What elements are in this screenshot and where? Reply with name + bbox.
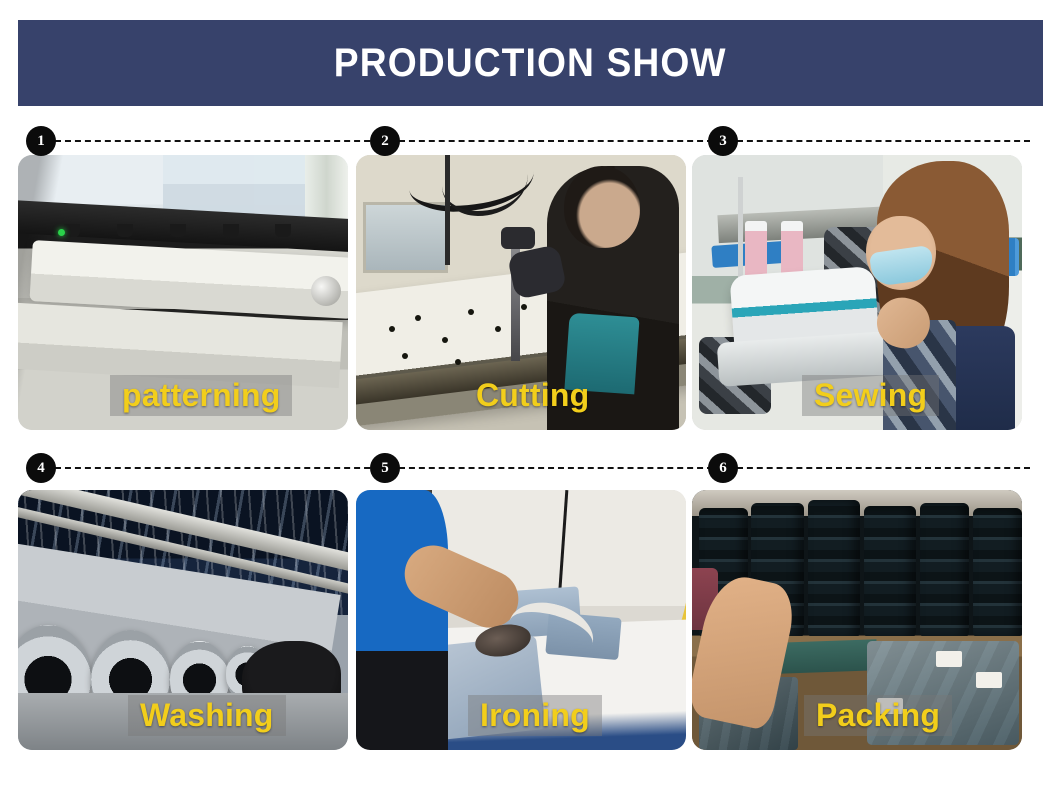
step-marker-2: 2: [370, 126, 713, 156]
fabric-mark: [521, 304, 527, 310]
garment-stack: [808, 500, 861, 638]
step-badge-2: 2: [370, 126, 400, 156]
step-connector-5: [399, 467, 713, 469]
bag-label: [976, 672, 1002, 688]
status-led: [58, 229, 65, 236]
step-badge-6: 6: [708, 453, 738, 483]
step-marker-1: 1: [26, 126, 390, 156]
plotter-nub: [223, 224, 239, 237]
header-banner: PRODUCTION SHOW: [18, 20, 1043, 106]
step-marker-5: 5: [370, 453, 713, 483]
step-badge-4: 4: [26, 453, 56, 483]
fabric-mark: [415, 315, 421, 321]
step-badge-5: 5: [370, 453, 400, 483]
worker-head: [564, 166, 640, 248]
page-title: PRODUCTION SHOW: [334, 41, 727, 86]
thread-spool: [781, 221, 803, 277]
fabric-mark: [389, 326, 395, 332]
step-caption-6: Packing: [804, 695, 952, 736]
cutting-machine-head: [501, 227, 535, 249]
plotter-nub: [117, 224, 133, 237]
production-show-page: PRODUCTION SHOW 1 2 3: [0, 0, 1060, 802]
step-connector-2: [399, 140, 713, 142]
step-card-5[interactable]: Ironing: [356, 490, 686, 750]
wall-pipe: [445, 155, 450, 265]
garment-stack: [920, 503, 970, 638]
step-badge-1: 1: [26, 126, 56, 156]
step-marker-6: 6: [708, 453, 1030, 483]
step-connector-1: [55, 140, 390, 142]
plotter-nub: [170, 224, 186, 237]
plotter-nub: [275, 224, 291, 237]
thread-spool: [745, 221, 767, 277]
bag-label: [936, 651, 962, 667]
step-card-4[interactable]: Washing: [18, 490, 348, 750]
step-badge-3: 3: [708, 126, 738, 156]
step-marker-row-1: 1 2 3: [0, 126, 1060, 156]
step-connector-6: [737, 467, 1030, 469]
step-connector-4: [55, 467, 390, 469]
step-caption-1: patterning: [110, 375, 292, 416]
worker-figure: [356, 490, 448, 750]
step-caption-2: Cutting: [464, 375, 601, 416]
step-connector-3: [737, 140, 1030, 142]
green-cutting-mat: [777, 639, 877, 674]
step-card-3[interactable]: Sewing: [692, 155, 1022, 430]
window-left: [363, 202, 449, 274]
step-card-2[interactable]: Cutting: [356, 155, 686, 430]
fabric-mark: [442, 337, 448, 343]
garment-stack: [864, 506, 917, 639]
fabric-mark: [495, 326, 501, 332]
step-marker-3: 3: [708, 126, 1030, 156]
step-caption-5: Ironing: [468, 695, 602, 736]
garment-stack: [973, 508, 1023, 638]
step-caption-4: Washing: [128, 695, 286, 736]
step-caption-3: Sewing: [802, 375, 939, 416]
step-card-1[interactable]: patterning: [18, 155, 348, 430]
step-marker-row-2: 4 5 6: [0, 453, 1060, 483]
step-marker-4: 4: [26, 453, 390, 483]
plotter-nub: [64, 224, 80, 237]
fabric-mark: [455, 359, 461, 365]
step-card-6[interactable]: Packing: [692, 490, 1022, 750]
